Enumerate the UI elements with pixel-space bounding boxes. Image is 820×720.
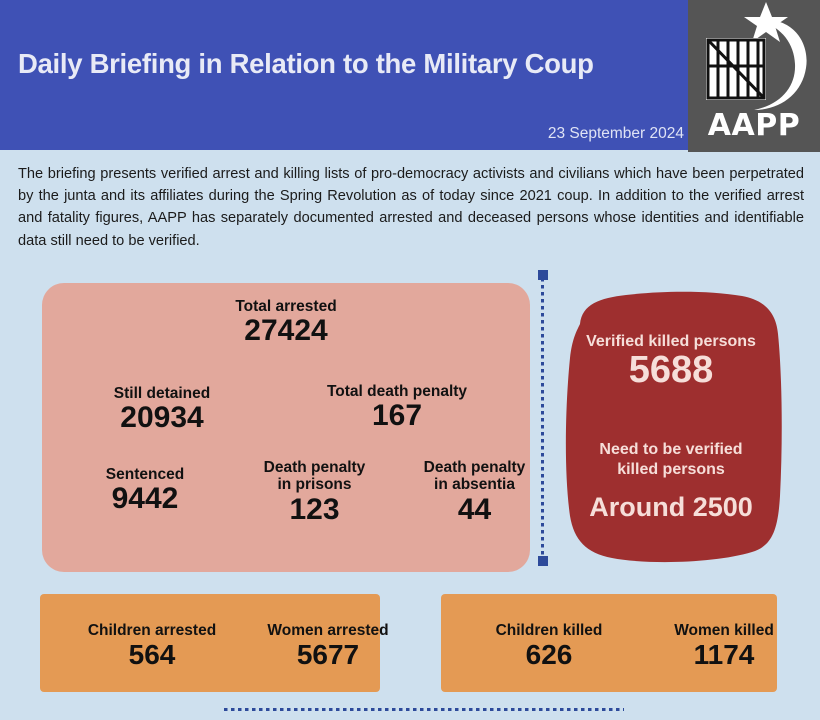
stat-label: Still detained — [67, 385, 257, 402]
stat-label: Sentenced — [60, 466, 230, 483]
arrested-demographics-panel: Children arrested 564 Women arrested 567… — [40, 594, 380, 692]
stat-label: Total death penalty — [287, 383, 507, 400]
stat-label: Women arrested — [228, 622, 428, 640]
stat-label: Total arrested — [186, 298, 386, 315]
stat-label: Children killed — [451, 622, 647, 640]
stat-children-arrested: Children arrested 564 — [52, 622, 252, 671]
unverified-killed-label-line1: Need to be verified — [556, 440, 786, 460]
stat-label-line1: Death penalty — [232, 459, 397, 476]
stat-value: 5677 — [228, 640, 428, 671]
unverified-killed-value: Around 2500 — [556, 493, 786, 523]
briefing-date: 23 September 2024 — [0, 125, 688, 143]
stat-children-killed: Children killed 626 — [451, 622, 647, 671]
aapp-logo-art — [688, 0, 820, 118]
stat-label-line1: Death penalty — [392, 459, 557, 476]
header-banner: Daily Briefing in Relation to the Milita… — [0, 0, 688, 150]
stat-value: 123 — [232, 494, 397, 526]
stat-label: Women killed — [626, 622, 820, 640]
stat-value: 9442 — [60, 483, 230, 515]
stat-value: 626 — [451, 640, 647, 671]
stat-value: 167 — [287, 400, 507, 432]
stat-total-death-penalty: Total death penalty 167 — [287, 383, 507, 433]
stat-women-arrested: Women arrested 5677 — [228, 622, 428, 671]
unverified-killed-label: Need to be verified killed persons — [556, 440, 786, 481]
stat-women-killed: Women killed 1174 — [626, 622, 820, 671]
verified-killed-value: 5688 — [556, 350, 786, 392]
stat-death-penalty-in-absentia: Death penalty in absentia 44 — [392, 459, 557, 526]
stat-label: Children arrested — [52, 622, 252, 640]
stat-value: 44 — [392, 494, 557, 526]
stat-still-detained: Still detained 20934 — [67, 385, 257, 435]
aapp-logo-panel: AAPP — [688, 0, 820, 152]
vertical-dotted-divider — [541, 270, 545, 566]
divider-dots — [541, 278, 544, 558]
page-title: Daily Briefing in Relation to the Milita… — [18, 48, 678, 80]
divider-cap-bottom — [538, 556, 548, 566]
killed-statistics-panel: Verified killed persons 5688 Need to be … — [556, 288, 786, 566]
unverified-killed-label-line2: killed persons — [556, 460, 786, 480]
killed-demographics-panel: Children killed 626 Women killed 1174 — [441, 594, 777, 692]
horizontal-dotted-divider — [224, 708, 624, 711]
stat-value: 20934 — [67, 402, 257, 434]
aapp-logo-text: AAPP — [688, 108, 820, 143]
stat-value: 564 — [52, 640, 252, 671]
stat-value: 27424 — [186, 315, 386, 347]
stat-sentenced: Sentenced 9442 — [60, 466, 230, 516]
stat-value: 1174 — [626, 640, 820, 671]
stat-label-line2: in absentia — [392, 476, 557, 493]
intro-paragraph: The briefing presents verified arrest an… — [18, 163, 804, 252]
star-icon — [744, 2, 788, 42]
stat-death-penalty-in-prisons: Death penalty in prisons 123 — [232, 459, 397, 526]
prison-window-icon — [706, 38, 766, 100]
arrest-statistics-panel: Total arrested 27424 Still detained 2093… — [42, 283, 530, 572]
stat-label-line2: in prisons — [232, 476, 397, 493]
killed-panel-content: Verified killed persons 5688 Need to be … — [556, 288, 786, 566]
stat-total-arrested: Total arrested 27424 — [186, 298, 386, 348]
